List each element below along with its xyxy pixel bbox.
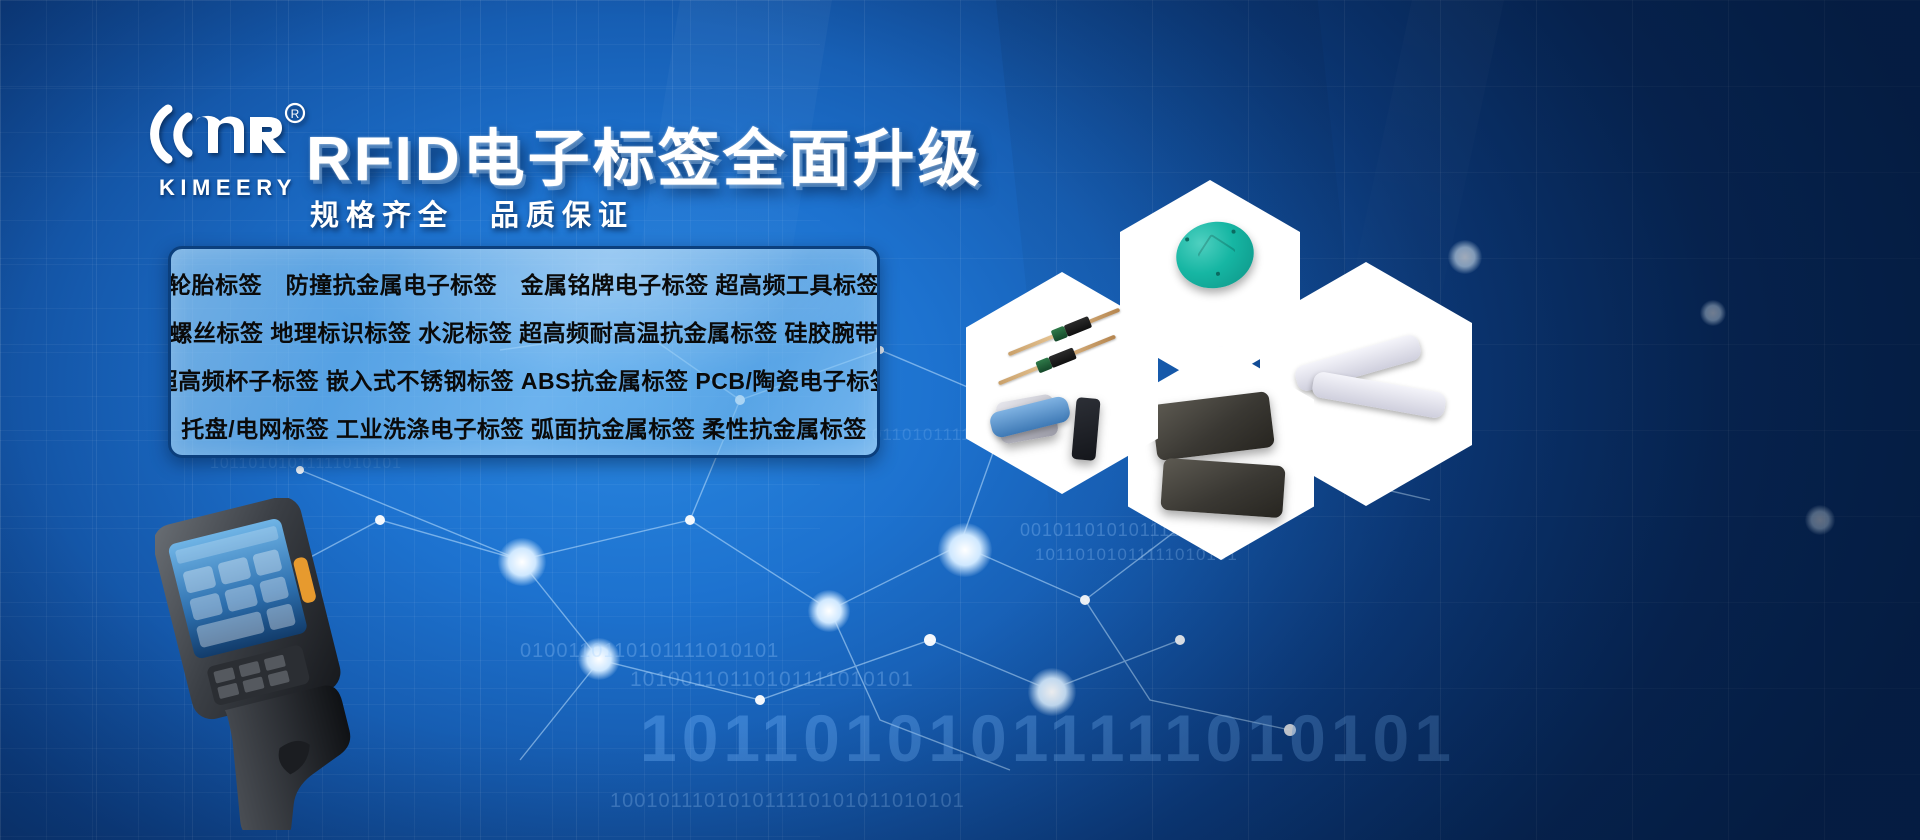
rfid-promo-banner: 0100110110101111010101 10100110110101111… [0,0,1920,840]
page-subtitle: 规格齐全 品质保证 [310,192,634,234]
teal-disc-tag [1170,215,1260,296]
wire-antenna-tag-2 [998,335,1116,386]
handheld-rfid-reader [155,498,385,830]
binary-text-large: 10110101011111010101 [640,700,1456,776]
page-title: RFID电子标签全面升级 [306,108,983,198]
binary-text: 100101110101011110101011010101 [610,790,965,813]
glow-dot [1700,300,1726,326]
kimeery-wave-logo-icon: R [138,97,308,169]
glow-dot [808,590,850,632]
black-bar-tag [1071,397,1100,461]
binary-text: 0100110110101111010101 [520,640,779,663]
registered-trademark-icon: R [286,104,304,122]
glow-dot [578,638,620,680]
product-list-row: 轮胎标签 防撞抗金属电子标签 金属铭牌电子标签 超高频工具标签 [187,259,861,307]
wire-antenna-tag-1 [1008,308,1121,357]
glow-dot [938,523,992,577]
product-list-panel: 轮胎标签 防撞抗金属电子标签 金属铭牌电子标签 超高频工具标签 螺丝标签 地理标… [168,246,880,458]
product-list-row: 螺丝标签 地理标识标签 水泥标签 超高频耐高温抗金属标签 硅胶腕带 [187,307,861,355]
product-list-row: 托盘/电网标签 工业洗涤电子标签 弧面抗金属标签 柔性抗金属标签 [187,403,861,451]
brand-wordmark: KIMEERY [138,175,318,201]
dark-rect-tag-upper [1151,391,1275,461]
product-list-row: 超高频杯子标签 嵌入式不锈钢标签 ABS抗金属标签 PCB/陶瓷电子标签 [187,355,861,403]
glow-dot [1028,668,1076,716]
glow-dot [1805,505,1835,535]
brand-logo: R KIMEERY [138,97,318,201]
dark-rect-tag-lower [1160,458,1285,518]
glow-dot [498,538,546,586]
svg-text:R: R [291,107,300,121]
glow-dot [1448,240,1482,274]
binary-text: 10100110110101111010101 [630,668,914,692]
white-bar-tag-lower [1311,371,1447,420]
